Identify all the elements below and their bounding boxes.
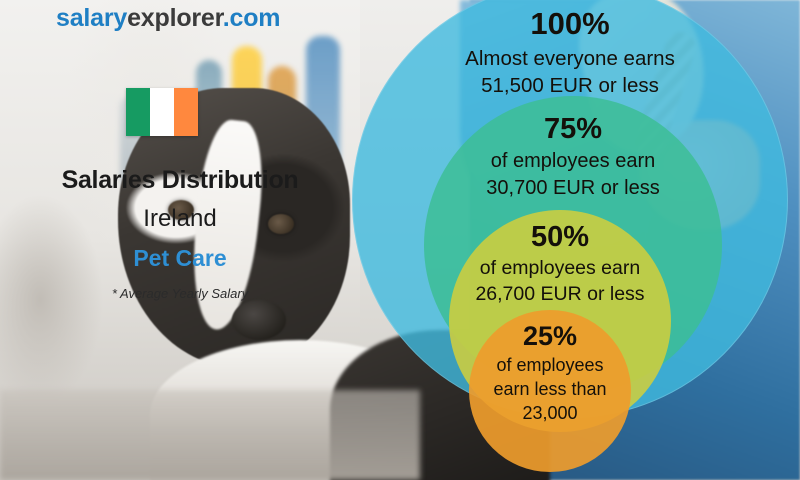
- logo-text-salary: salary: [56, 4, 127, 32]
- page-title: Salaries Distribution: [30, 166, 330, 195]
- floor-blur: [0, 390, 420, 480]
- country-label: Ireland: [30, 205, 330, 233]
- ireland-flag-icon: [126, 88, 198, 136]
- flag-stripe-green: [126, 88, 150, 136]
- bubble-25-line3: 23,000: [522, 402, 577, 426]
- bubble-50-line1: of employees earn: [480, 256, 640, 282]
- site-logo[interactable]: salaryexplorer.com: [56, 4, 280, 33]
- flag-stripe-orange: [174, 88, 198, 136]
- bubble-percentile-25: 25% of employees earn less than 23,000: [469, 310, 631, 472]
- dog-nose: [232, 300, 286, 340]
- footnote-label: * Average Yearly Salary: [30, 286, 330, 301]
- flag-stripe-white: [150, 88, 174, 136]
- logo-text-explorer: explorer: [127, 4, 223, 32]
- job-title-label: Pet Care: [30, 245, 330, 272]
- bubble-25-line1: of employees: [496, 354, 603, 378]
- bubble-100-line2: 51,500 EUR or less: [481, 72, 659, 99]
- bubble-25-percent: 25%: [523, 322, 577, 350]
- bubble-50-line2: 26,700 EUR or less: [475, 282, 644, 308]
- logo-text-com: .com: [223, 4, 281, 32]
- bubble-100-line1: Almost everyone earns: [465, 45, 675, 72]
- bubble-75-line1: of employees earn: [491, 148, 656, 174]
- bubble-75-line2: 30,700 EUR or less: [486, 175, 659, 201]
- bubble-100-percent: 100%: [530, 8, 609, 41]
- bubble-25-line2: earn less than: [493, 378, 606, 402]
- bubble-50-percent: 50%: [531, 222, 589, 252]
- bubble-75-percent: 75%: [544, 114, 602, 144]
- caption-block: Salaries Distribution Ireland Pet Care *…: [30, 166, 330, 301]
